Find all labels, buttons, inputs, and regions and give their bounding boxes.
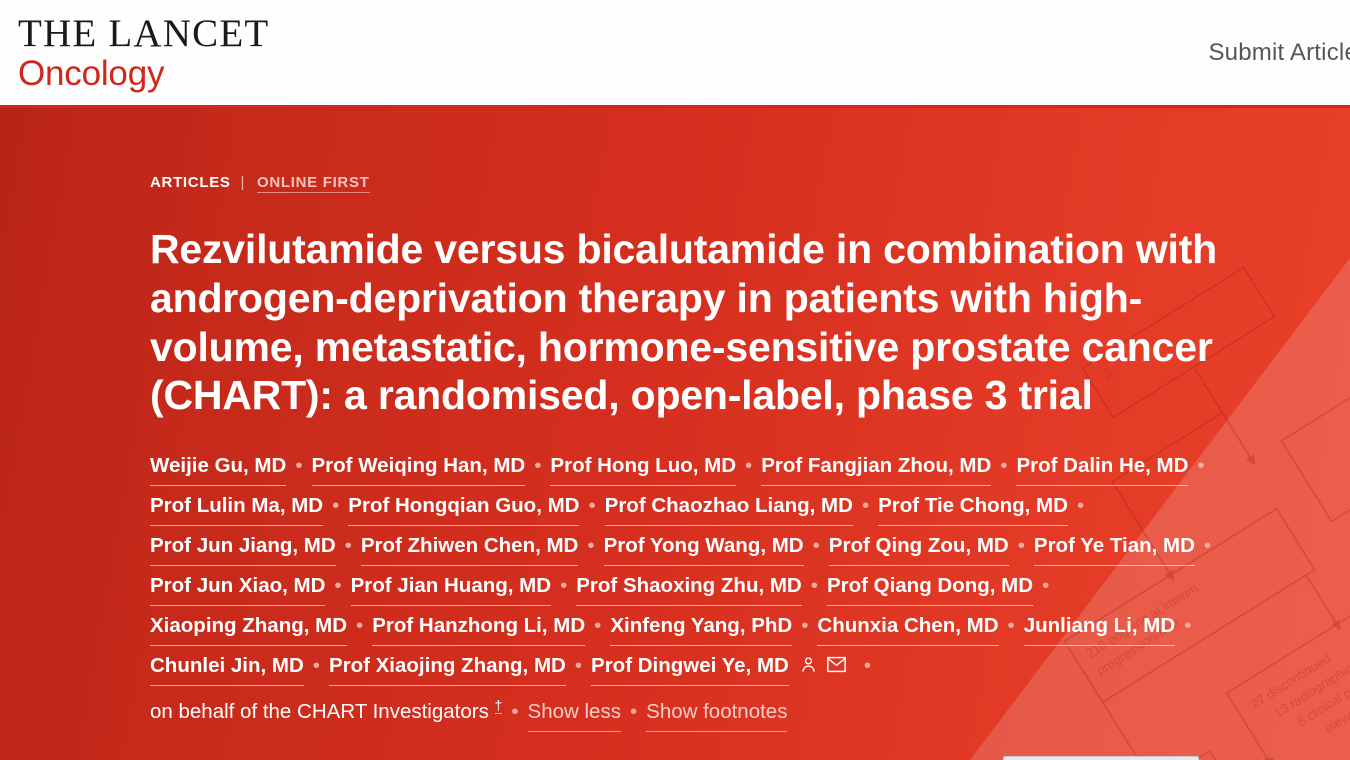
footnote-dagger-marker[interactable]: † (495, 697, 503, 714)
author-link[interactable]: Chunlei Jin, MD (150, 646, 304, 686)
author-separator-bullet: • (745, 446, 752, 485)
show-less-link[interactable]: Show less (528, 692, 621, 732)
article-hero-banner: 3 218 ongoing at interim progression-fre… (0, 108, 1350, 760)
on-behalf-of-text: on behalf of the CHART Investigators † (150, 686, 502, 731)
hero-content: ARTICLES | ONLINE FIRST Rezvilutamide ve… (0, 108, 1350, 760)
author-link[interactable]: Prof Hong Luo, MD (550, 446, 736, 486)
author-separator-bullet: • (334, 566, 341, 605)
show-footnotes-link[interactable]: Show footnotes (646, 692, 787, 732)
breadcrumb-kicker: ARTICLES | ONLINE FIRST (150, 174, 1350, 191)
author-separator-bullet: • (587, 526, 594, 565)
author-separator-bullet: • (630, 692, 637, 731)
submit-article-link[interactable]: Submit Article (1208, 39, 1350, 66)
author-separator-bullet: • (534, 446, 541, 485)
kicker-section-label: ARTICLES (150, 174, 231, 191)
author-separator-bullet: • (1077, 486, 1084, 525)
brand-lancet-text: THE LANCET (18, 14, 269, 53)
person-icon[interactable] (799, 655, 818, 674)
author-link[interactable]: Prof Jun Xiao, MD (150, 566, 325, 606)
author-link[interactable]: Prof Dalin He, MD (1016, 446, 1188, 486)
author-link[interactable]: Prof Dingwei Ye, MD (591, 646, 789, 686)
author-separator-bullet: • (1008, 606, 1015, 645)
envelope-icon[interactable] (826, 655, 847, 674)
header-nav: Submit Article (1208, 39, 1350, 67)
lancet-oncology-logo[interactable]: THE LANCET Oncology (18, 14, 269, 91)
author-separator-bullet: • (313, 646, 320, 685)
author-separator-bullet: • (594, 606, 601, 645)
on-behalf-of-label: on behalf of the CHART Investigators (150, 700, 489, 723)
author-separator-bullet: • (1197, 446, 1204, 485)
author-link[interactable]: Xiaoping Zhang, MD (150, 606, 347, 646)
author-separator-bullet: • (295, 446, 302, 485)
article-hero-page: THE LANCET Oncology Submit Article (0, 0, 1350, 760)
crossmark-check-for-updates-button[interactable]: Check for updates (1003, 756, 1199, 760)
author-separator-bullet: • (1000, 446, 1007, 485)
author-link[interactable]: Prof Hanzhong Li, MD (372, 606, 585, 646)
author-separator-bullet: • (332, 486, 339, 525)
author-link[interactable]: Prof Fangjian Zhou, MD (761, 446, 991, 486)
author-link[interactable]: Chunxia Chen, MD (817, 606, 998, 646)
author-separator-bullet: • (811, 566, 818, 605)
author-link[interactable]: Prof Ye Tian, MD (1034, 526, 1195, 566)
correspondence-icons (799, 655, 855, 674)
author-separator-bullet: • (588, 486, 595, 525)
author-link[interactable]: Prof Zhiwen Chen, MD (361, 526, 579, 566)
author-separator-bullet: • (864, 646, 871, 685)
author-link[interactable]: Prof Chaozhao Liang, MD (605, 486, 853, 526)
author-link[interactable]: Prof Weiqing Han, MD (312, 446, 526, 486)
article-meta-row: Published: September 05, 2022 • DOI: htt… (150, 754, 1350, 760)
author-separator-bullet: • (801, 606, 808, 645)
brand-oncology-text: Oncology (18, 56, 269, 91)
author-link[interactable]: Prof Yong Wang, MD (604, 526, 804, 566)
author-link[interactable]: Prof Shaoxing Zhu, MD (576, 566, 802, 606)
author-separator-bullet: • (356, 606, 363, 645)
meta-bullet: • (456, 754, 463, 760)
author-link[interactable]: Prof Xiaojing Zhang, MD (329, 646, 566, 686)
author-separator-bullet: • (575, 646, 582, 685)
author-list: Weijie Gu, MD•Prof Weiqing Han, MD•Prof … (150, 446, 1230, 732)
kicker-separator: | (240, 174, 245, 191)
author-separator-bullet: • (1184, 606, 1191, 645)
author-separator-bullet: • (1042, 566, 1049, 605)
author-link[interactable]: Prof Jian Huang, MD (351, 566, 551, 606)
author-separator-bullet: • (813, 526, 820, 565)
author-link[interactable]: Prof Qing Zou, MD (829, 526, 1009, 566)
article-title: Rezvilutamide versus bicalutamide in com… (150, 225, 1250, 420)
author-separator-bullet: • (560, 566, 567, 605)
meta-bullet-2: • (963, 754, 970, 760)
site-header: THE LANCET Oncology Submit Article (0, 0, 1350, 108)
author-link[interactable]: Prof Hongqian Guo, MD (348, 486, 579, 526)
author-link[interactable]: Xinfeng Yang, PhD (610, 606, 792, 646)
author-separator-bullet: • (1018, 526, 1025, 565)
author-link[interactable]: Prof Jun Jiang, MD (150, 526, 336, 566)
author-separator-bullet: • (1204, 526, 1211, 565)
author-separator-bullet: • (345, 526, 352, 565)
author-link[interactable]: Prof Qiang Dong, MD (827, 566, 1033, 606)
author-separator-bullet: • (511, 692, 518, 731)
online-first-link[interactable]: ONLINE FIRST (257, 174, 370, 193)
author-link[interactable]: Prof Lulin Ma, MD (150, 486, 323, 526)
author-link[interactable]: Weijie Gu, MD (150, 446, 286, 486)
author-link[interactable]: Junliang Li, MD (1024, 606, 1175, 646)
author-separator-bullet: • (862, 486, 869, 525)
author-link[interactable]: Prof Tie Chong, MD (878, 486, 1068, 526)
